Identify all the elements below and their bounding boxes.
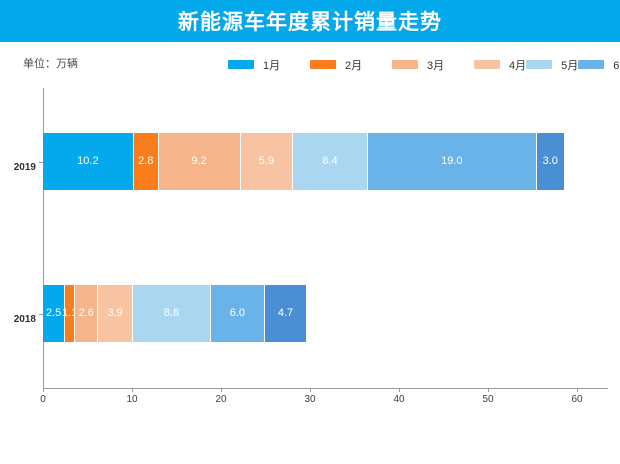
y-axis-tick-label-2018: 2018	[14, 314, 36, 325]
x-axis-tick-mark	[221, 388, 222, 392]
bar-segment-2018-5月[interactable]: 8.8	[133, 285, 211, 342]
x-axis-tick-mark	[399, 388, 400, 392]
bar-segment-value-label: 8.4	[322, 156, 337, 167]
bar-segment-2019-2月[interactable]: 2.8	[134, 133, 159, 190]
stacked-bar-2019: 10.22.89.25.98.419.03.0	[43, 133, 564, 190]
bar-segment-value-label: 2.5	[46, 308, 61, 319]
x-axis-tick-label: 30	[304, 394, 315, 405]
bar-segment-2018-7月[interactable]: 4.7	[265, 285, 307, 342]
x-axis-tick-mark	[488, 388, 489, 392]
x-axis-tick-mark	[132, 388, 133, 392]
bar-segment-2018-3月[interactable]: 2.6	[75, 285, 98, 342]
stacked-bar-2018: 2.51.12.63.98.86.04.7	[43, 285, 306, 342]
bar-segment-2019-6月[interactable]: 19.0	[368, 133, 537, 190]
chart-plot-area: 0102030405060 20192018 10.22.89.25.98.41…	[0, 0, 620, 464]
x-axis-line	[43, 388, 608, 389]
bar-segment-2018-6月[interactable]: 6.0	[211, 285, 264, 342]
bar-segment-value-label: 2.6	[78, 308, 93, 319]
bar-segment-2019-7月[interactable]: 3.0	[537, 133, 564, 190]
x-axis-tick-label: 60	[571, 394, 582, 405]
y-axis-tick-label-2019: 2019	[14, 162, 36, 173]
bar-segment-value-label: 3.9	[107, 308, 122, 319]
bar-segment-value-label: 9.2	[191, 156, 206, 167]
x-axis-tick-mark	[43, 388, 44, 392]
bar-segment-2018-4月[interactable]: 3.9	[98, 285, 133, 342]
x-axis-tick-mark	[577, 388, 578, 392]
bar-segment-value-label: 5.9	[259, 156, 274, 167]
bar-segment-value-label: 19.0	[441, 156, 462, 167]
bar-segment-2019-4月[interactable]: 5.9	[241, 133, 294, 190]
bar-segment-2018-2月[interactable]: 1.1	[65, 285, 75, 342]
x-axis-tick-label: 20	[215, 394, 226, 405]
x-axis-tick-mark	[310, 388, 311, 392]
x-axis-tick-label: 0	[40, 394, 46, 405]
bar-segment-value-label: 6.0	[230, 308, 245, 319]
x-axis-tick-label: 50	[482, 394, 493, 405]
bar-segment-2019-3月[interactable]: 9.2	[159, 133, 241, 190]
bar-segment-value-label: 4.7	[278, 308, 293, 319]
x-axis-tick-label: 40	[393, 394, 404, 405]
bar-segment-2019-1月[interactable]: 10.2	[43, 133, 134, 190]
bar-segment-value-label: 10.2	[77, 156, 98, 167]
bar-segment-value-label: 3.0	[543, 156, 558, 167]
bar-segment-2019-5月[interactable]: 8.4	[293, 133, 368, 190]
bar-segment-value-label: 8.8	[164, 308, 179, 319]
bar-segment-value-label: 2.8	[138, 156, 153, 167]
x-axis-tick-label: 10	[126, 394, 137, 405]
